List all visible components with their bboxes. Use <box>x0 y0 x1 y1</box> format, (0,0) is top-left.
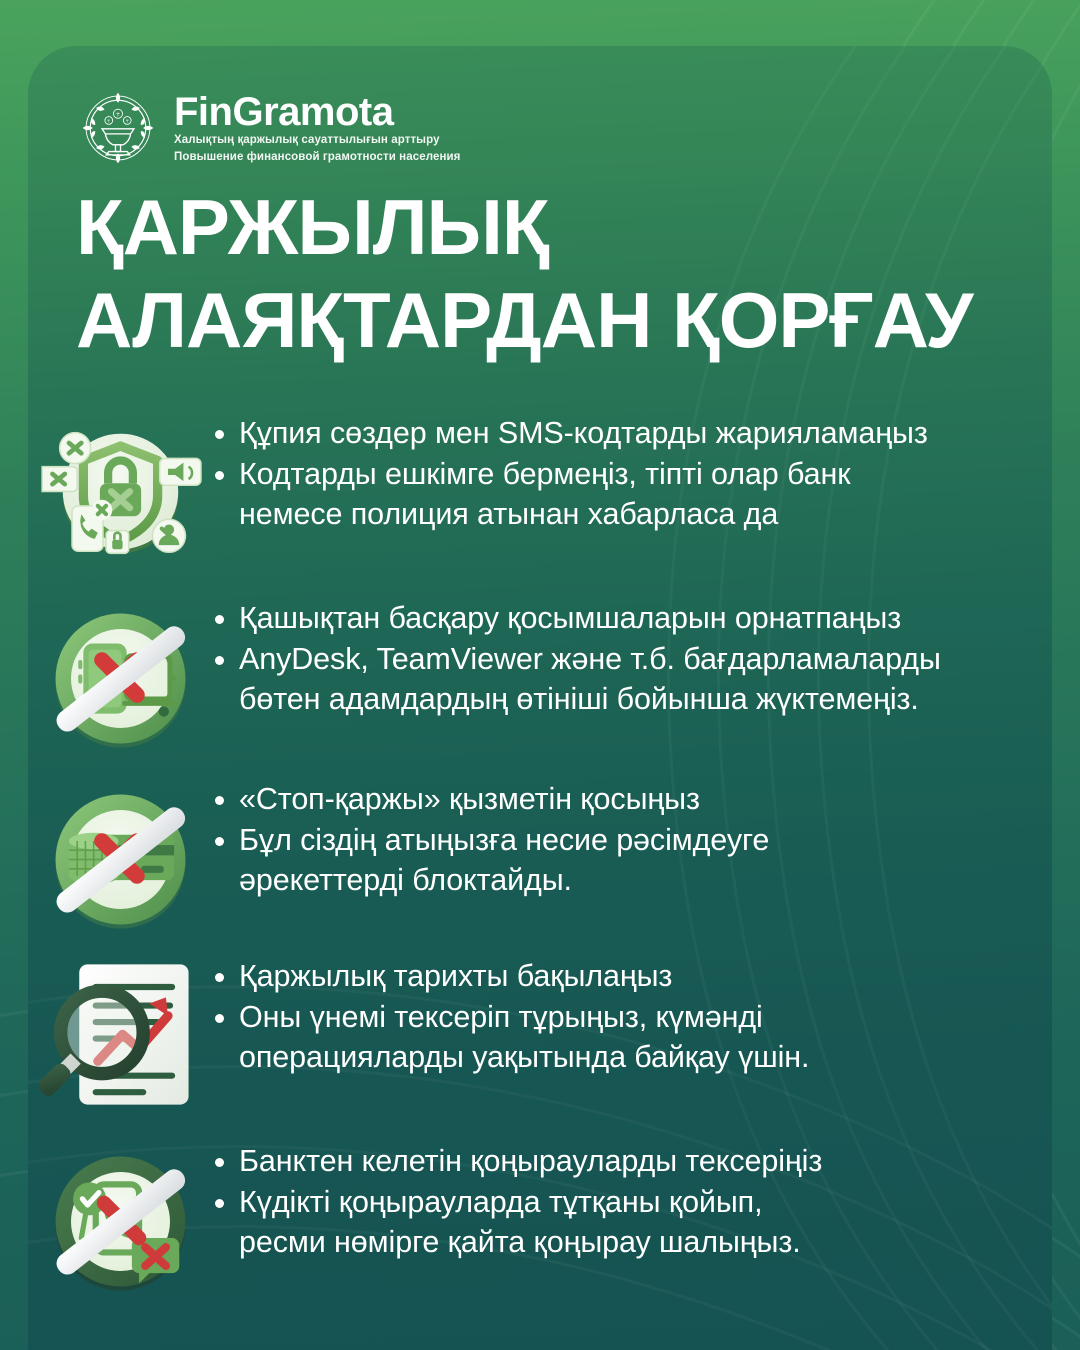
tip-row: «Стоп-қаржы» қызметін қосыңыз Бұл сіздің… <box>28 772 1052 947</box>
tip-icon-wrapper <box>28 772 213 947</box>
no-remote-access-icon <box>38 596 203 761</box>
tip-text-block: «Стоп-қаржы» қызметін қосыңыз Бұл сіздің… <box>213 772 1052 902</box>
tip-line: «Стоп-қаржы» қызметін қосыңыз <box>213 780 1042 820</box>
brand-header: ₸ ₸ ₸ FinGramota Халықтың қаржылық сауат… <box>76 86 460 170</box>
tip-line: Оны үнемі тексеріп тұрыңыз, күмәнді <box>213 998 1042 1038</box>
tip-text-block: Банктен келетін қоңырауларды тексеріңіз … <box>213 1134 1052 1264</box>
tip-line: бөтен адамдардың өтініші бойынша жүктеме… <box>213 680 1042 720</box>
tip-row: Құпия сөздер мен SMS-кодтарды жарияламаң… <box>28 406 1052 581</box>
svg-text:₸: ₸ <box>107 119 110 124</box>
tip-line: әрекеттерді блоктайды. <box>213 861 1042 901</box>
shield-lock-icon <box>38 411 203 576</box>
brand-text-block: FinGramota Халықтың қаржылық сауаттылығы… <box>174 90 460 165</box>
svg-text:₸: ₸ <box>126 119 129 124</box>
tip-line: ресми нөмірге қайта қоңырау шалыңыз. <box>213 1223 1042 1263</box>
no-credit-card-icon <box>38 777 203 942</box>
tip-icon-wrapper <box>28 406 213 581</box>
tip-line: Құпия сөздер мен SMS-кодтарды жарияламаң… <box>213 414 1042 454</box>
title-line-2: АЛАЯҚТАРДАН ҚОРҒАУ <box>76 277 1006 364</box>
brand-name: FinGramota <box>174 92 460 132</box>
tip-line: Қаржылық тарихты бақылаңыз <box>213 957 1042 997</box>
tip-icon-wrapper <box>28 591 213 766</box>
tip-line: AnyDesk, TeamViewer және т.б. бағдарлама… <box>213 640 1042 680</box>
tip-row: Қаржылық тарихты бақылаңыз Оны үнемі тек… <box>28 949 1052 1124</box>
tip-icon-wrapper <box>28 949 213 1124</box>
tip-row: Банктен келетін қоңырауларды тексеріңіз … <box>28 1134 1052 1309</box>
tip-text-block: Қаржылық тарихты бақылаңыз Оны үнемі тек… <box>213 949 1052 1079</box>
content-card: ₸ ₸ ₸ FinGramota Халықтың қаржылық сауат… <box>28 46 1052 1350</box>
tip-line: Бұл сіздің атыңызға несие рәсімдеуге <box>213 821 1042 861</box>
tip-row: Қашықтан басқару қосымшаларын орнатпаңыз… <box>28 591 1052 766</box>
tip-line: немесе полиция атынан хабарласа да <box>213 495 1042 535</box>
brand-subtitle-ru: Повышение финансовой грамотности населен… <box>174 149 460 166</box>
tip-line: Кодтарды ешкімге бермеңіз, тіпті олар ба… <box>213 455 1042 495</box>
tip-line: операцияларды уақытында байқау үшін. <box>213 1038 1042 1078</box>
brand-subtitle-kk: Халықтың қаржылық сауаттылығын арттыру <box>174 132 460 149</box>
tips-list: Құпия сөздер мен SMS-кодтарды жарияламаң… <box>28 406 1052 1309</box>
tip-line: Банктен келетін қоңырауларды тексеріңіз <box>213 1142 1042 1182</box>
magnifier-document-chart-icon <box>38 954 203 1119</box>
tip-line: Күдікті қоңырауларда тұтқаны қойып, <box>213 1183 1042 1223</box>
title-line-1: ҚАРЖЫЛЫҚ <box>76 184 1006 271</box>
tip-text-block: Құпия сөздер мен SMS-кодтарды жарияламаң… <box>213 406 1052 536</box>
tip-line: Қашықтан басқару қосымшаларын орнатпаңыз <box>213 599 1042 639</box>
tip-text-block: Қашықтан басқару қосымшаларын орнатпаңыз… <box>213 591 1052 721</box>
ornate-bowl-emblem-icon: ₸ ₸ ₸ <box>76 86 160 170</box>
tip-icon-wrapper <box>28 1134 213 1309</box>
page-title: ҚАРЖЫЛЫҚ АЛАЯҚТАРДАН ҚОРҒАУ <box>76 184 1006 365</box>
no-suspicious-call-icon <box>38 1139 203 1304</box>
